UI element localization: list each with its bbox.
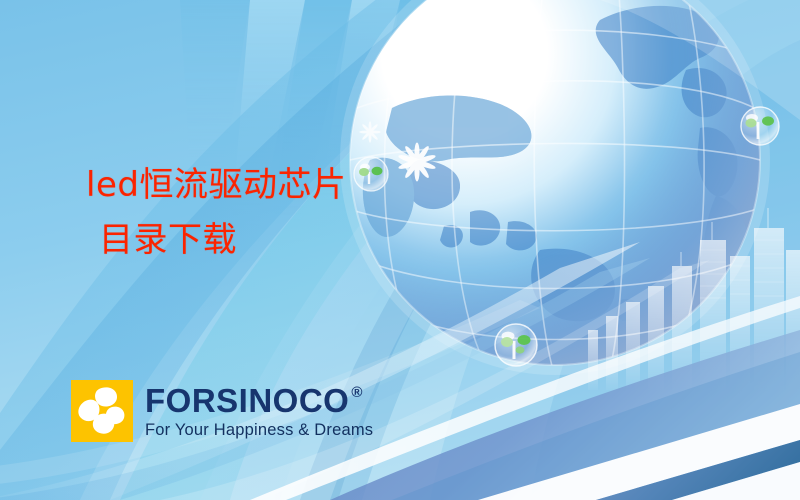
wordmark-text: FORSINOCO — [145, 384, 349, 417]
forsinoco-four-petal-mark-icon — [71, 380, 133, 442]
company-tagline: For Your Happiness & Dreams — [145, 422, 373, 439]
headline-text-block: led恒流驱动芯片 目录下载 — [86, 163, 346, 263]
logo-text-block: FORSINOCO ® For Your Happiness & Dreams — [145, 384, 373, 439]
registered-trademark-symbol: ® — [351, 385, 363, 400]
promo-banner: led恒流驱动芯片 目录下载 FORSINOCO ® — [0, 0, 800, 500]
white-flower-burst-small — [359, 121, 380, 142]
company-wordmark: FORSINOCO ® — [145, 384, 373, 417]
bubble-with-sprout-center — [495, 324, 537, 366]
bubble-with-sprout-right — [741, 107, 779, 145]
bubble-with-sprout-left — [354, 157, 388, 191]
headline-line-1: led恒流驱动芯片 — [86, 163, 346, 208]
headline-line-2: 目录下载 — [86, 218, 346, 263]
company-logo-lockup[interactable]: FORSINOCO ® For Your Happiness & Dreams — [71, 380, 373, 442]
